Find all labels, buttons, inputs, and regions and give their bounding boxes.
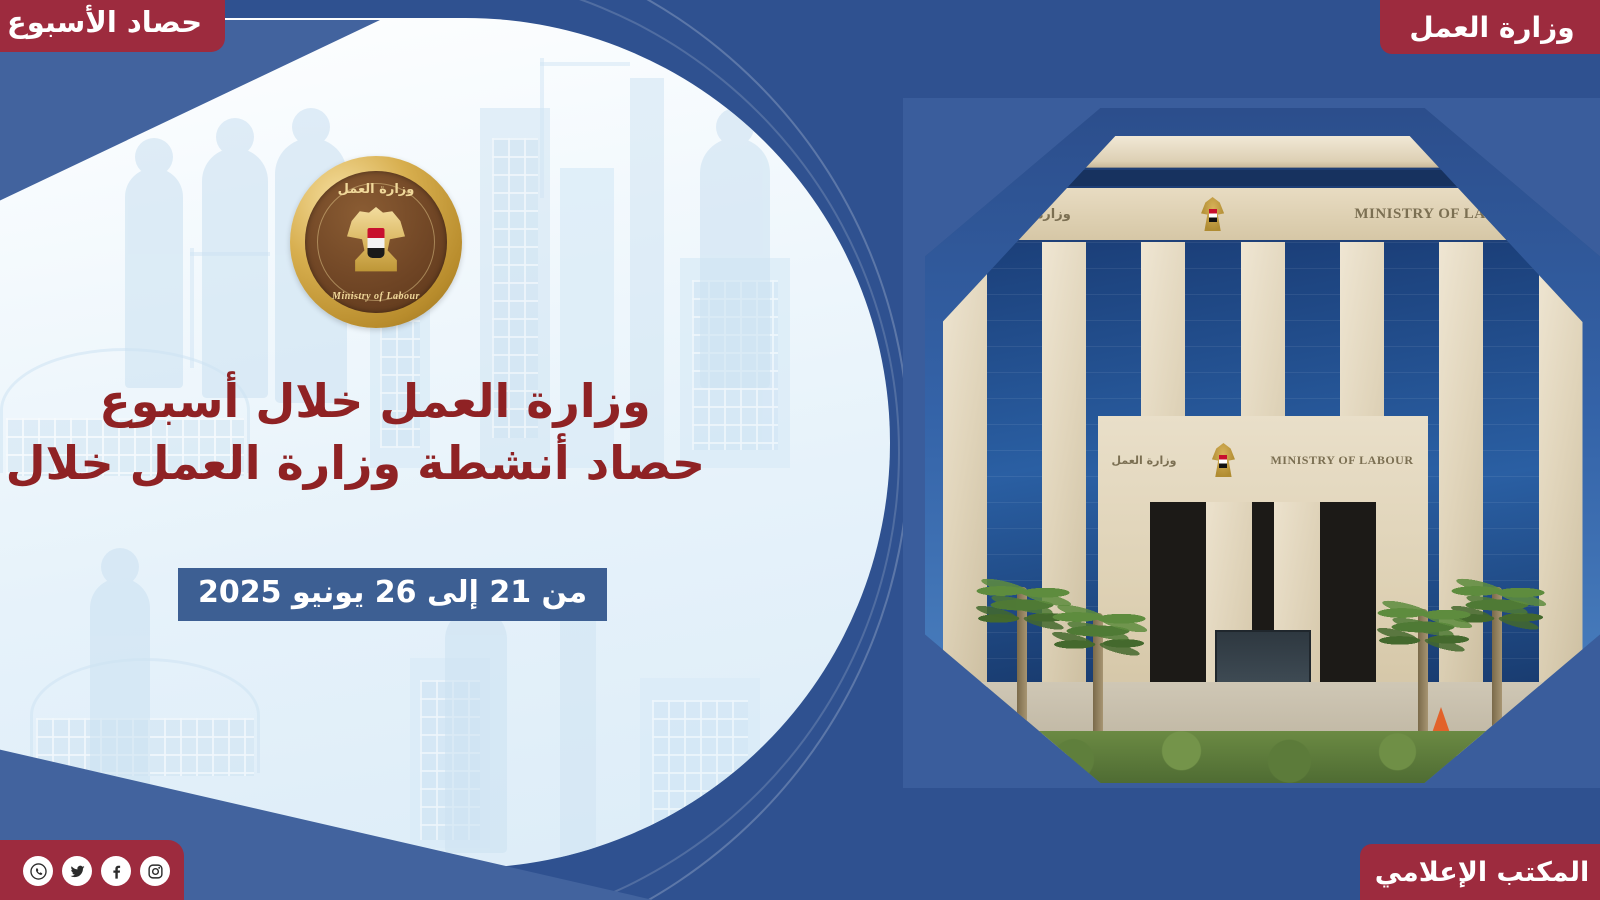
- eagle-of-saladin-icon: [347, 207, 405, 277]
- facade-glass-bay: [987, 242, 1042, 756]
- entrance-sign-arabic: وزارة العمل: [1112, 454, 1177, 467]
- ministry-emblem: وزارة العمل Ministry of Labour: [290, 156, 462, 328]
- facade-pier: [1539, 242, 1583, 756]
- palm-tree: [1093, 613, 1103, 737]
- entrance-eagle-emblem-icon: [1211, 443, 1235, 477]
- palm-tree: [1017, 587, 1027, 737]
- social-links-bar: [0, 840, 184, 900]
- building-eagle-emblem-icon: [1201, 197, 1225, 231]
- headline-block: وزارة العمل خلال أسبوع حصاد أنشطة وزارة …: [45, 370, 705, 494]
- ministry-building-photo: MINISTRY OF LABOUR وزارة العمل: [925, 108, 1600, 783]
- building-photo-panel: MINISTRY OF LABOUR وزارة العمل: [903, 98, 1600, 788]
- whatsapp-icon[interactable]: [23, 856, 53, 886]
- headline-line-2: حصاد أنشطة وزارة العمل خلال الفترة: [45, 432, 705, 494]
- poster-canvas: وزارة العمل Ministry of Labour وزارة الع…: [0, 0, 1600, 900]
- garden-hedge: [925, 731, 1600, 783]
- palm-tree: [1492, 587, 1502, 737]
- banner-weekly-harvest: حصاد الأسبوع: [0, 0, 225, 52]
- traffic-cone: [1432, 707, 1450, 733]
- facebook-icon[interactable]: [101, 856, 131, 886]
- banner-ministry-name: وزارة العمل: [1380, 0, 1600, 54]
- main-content-card: وزارة العمل Ministry of Labour وزارة الع…: [0, 18, 890, 868]
- twitter-icon[interactable]: [62, 856, 92, 886]
- instagram-icon[interactable]: [140, 856, 170, 886]
- palm-tree: [1418, 609, 1428, 737]
- entrance-sign-band: MINISTRY OF LABOUR وزارة العمل: [1112, 440, 1414, 480]
- facade-pier: [1042, 242, 1086, 756]
- headline-line-1: وزارة العمل خلال أسبوع: [45, 370, 705, 432]
- seal-arabic-text: وزارة العمل: [305, 182, 446, 197]
- facade-pier: [943, 242, 987, 756]
- date-range-badge: من 21 إلى 26 يونيو 2025: [178, 568, 607, 621]
- seal-english-text: Ministry of Labour: [305, 291, 446, 302]
- octagonal-photo-frame: MINISTRY OF LABOUR وزارة العمل: [925, 108, 1600, 783]
- facade-pier: [1439, 242, 1483, 756]
- banner-media-office: المكتب الإعلامي: [1360, 844, 1600, 900]
- seal-inner-disc: وزارة العمل Ministry of Labour: [305, 171, 446, 312]
- seal-outer-ring: وزارة العمل Ministry of Labour: [290, 156, 462, 328]
- building-tower: MINISTRY OF LABOUR وزارة العمل: [943, 136, 1583, 756]
- entrance-sign-english: MINISTRY OF LABOUR: [1270, 453, 1413, 468]
